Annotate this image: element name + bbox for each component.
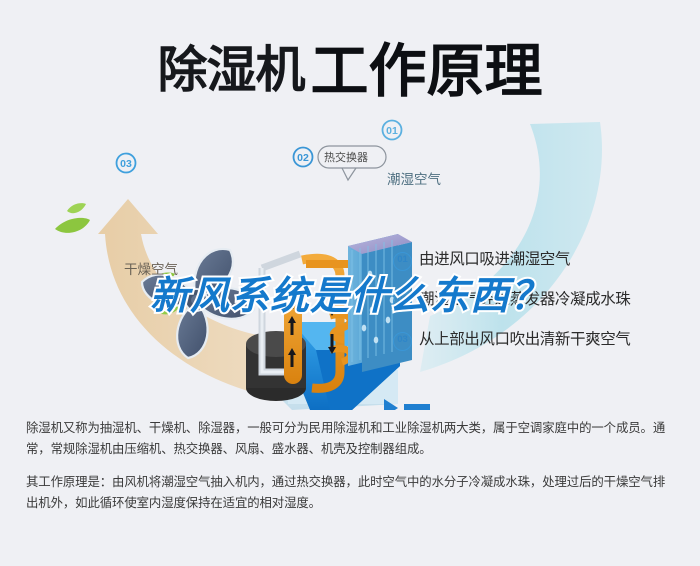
svg-text:热交换器: 热交换器	[324, 150, 368, 164]
diagram-badge-01: 01	[383, 121, 402, 140]
watermark-overlay: 新风系统是什么东西？	[0, 265, 700, 321]
svg-text:03: 03	[120, 158, 132, 170]
article-body: 除湿机又称为抽湿机、干燥机、除湿器，一般可分为民用除湿机和工业除湿机两大类，属于…	[26, 418, 676, 513]
infographic-page: 除湿机工作原理	[0, 0, 700, 566]
paragraph: 其工作原理是：由风机将潮湿空气抽入机内，通过热交换器，此时空气中的水分子冷凝成水…	[26, 472, 676, 513]
diagram-badge-02: 02	[294, 148, 313, 167]
watermark-text: 新风系统是什么东西？	[150, 265, 550, 321]
svg-text:02: 02	[297, 152, 309, 164]
legend-badge: 03	[393, 332, 412, 351]
page-title: 除湿机工作原理	[0, 24, 700, 108]
svg-text:01: 01	[386, 125, 398, 137]
paragraph: 除湿机又称为抽湿机、干燥机、除湿器，一般可分为民用除湿机和工业除湿机两大类，属于…	[26, 418, 676, 459]
list-item: 03 从上部出风口吹出清新干爽空气	[393, 330, 693, 351]
diagram-badge-03: 03	[117, 154, 136, 173]
page-title-part1: 除湿机	[157, 41, 304, 99]
page-title-part2: 工作原理	[310, 39, 542, 104]
humid-air-label: 潮湿空气	[387, 172, 441, 188]
legend-text: 从上部出风口吹出清新干爽空气	[419, 330, 630, 348]
heat-exchanger-callout: 热交换器	[318, 146, 386, 180]
